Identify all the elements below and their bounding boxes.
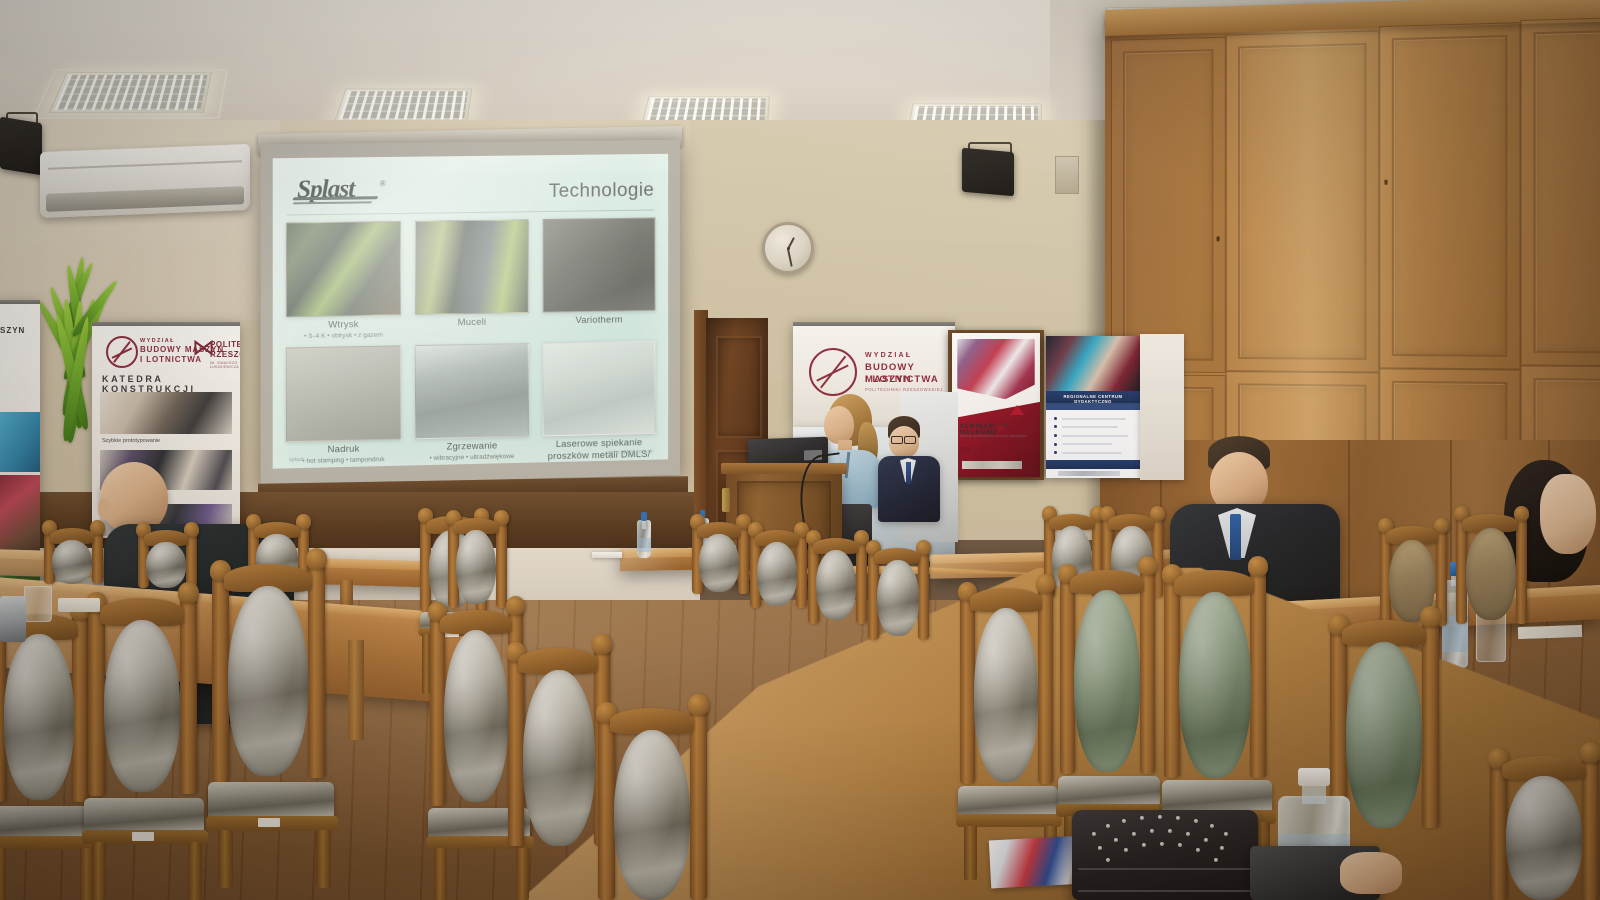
slide-content: Splast ® Technologie Wtrysk • 3–4 K • ob…	[273, 154, 668, 469]
poster-regionalne-centrum: REGIONALNE CENTRUM DYDAKTYCZNO	[1046, 336, 1140, 478]
tile-image-nadruk	[286, 346, 401, 443]
chair-fg-center-3[interactable]	[598, 700, 726, 900]
handbag-foreground	[1072, 810, 1258, 900]
tile-image-wtrysk	[286, 221, 401, 317]
banner-left-caption: Szybkie prototypowanie	[102, 438, 160, 444]
tile-subtitle-0: • 3–4 K • oblrysk • z gazem	[304, 332, 383, 342]
bottle-back-1	[637, 512, 651, 558]
banner-left-pr-sub: IM. IGNACEGO ŁUKASIEWICZA	[210, 361, 240, 369]
man2-glasses-right	[904, 436, 916, 444]
ceiling-light-1	[49, 73, 212, 113]
cabinet-door-3[interactable]	[1379, 22, 1520, 369]
tile-image-zgrzewanie	[415, 343, 529, 439]
tile-image-variotherm	[543, 217, 656, 312]
tile-caption-2: Variotherm	[576, 314, 623, 327]
tile-zgrzewanie: Zgrzewanie • wibracyjne • ultradźwiękowe	[416, 343, 528, 468]
banner-podium-line3: I LOTNICTWA	[865, 374, 939, 386]
cabinet-door-1[interactable]	[1111, 37, 1226, 373]
man2-glasses-left	[891, 436, 903, 444]
wall-clock	[762, 222, 814, 274]
cabinet-door-4[interactable]	[1520, 17, 1600, 366]
object-left-edge	[0, 596, 26, 642]
tile-caption-3: Nadruk	[327, 444, 359, 457]
slide-divider	[287, 210, 654, 216]
splast-registered-mark: ®	[380, 179, 386, 188]
banner-far-left-heading: SZYN	[0, 326, 25, 335]
chair-fg-right-5[interactable]	[1490, 750, 1600, 900]
chair-fg-left-3[interactable]	[212, 550, 348, 890]
wall-vent	[1055, 156, 1079, 194]
banner-left-pr-line2: RZESZOWSKA	[210, 350, 240, 360]
splast-logo: Splast ®	[291, 171, 384, 206]
tile-image-muceli	[415, 219, 529, 315]
wbmil-logo-icon	[106, 336, 138, 368]
air-conditioner	[40, 144, 250, 218]
banner-podium-line1: WYDZIAŁ	[865, 352, 912, 359]
papers-left	[58, 598, 100, 612]
banner-left-pr-line1: POLITECHNIKA	[210, 340, 240, 350]
far-right-face	[1540, 474, 1596, 554]
hand-foreground	[1340, 852, 1402, 894]
chair-mid-4[interactable]	[806, 530, 870, 680]
tile-muceli: Muceli	[416, 219, 528, 339]
attendee-right-tie	[1230, 514, 1241, 560]
conference-room-photo: Splast ® Technologie Wtrysk • 3–4 K • ob…	[0, 0, 1600, 900]
papers-back-2	[592, 552, 622, 558]
tile-image-laserowe	[543, 341, 656, 437]
tile-caption-0: Wtrysk	[328, 319, 358, 331]
wall-speaker-left	[0, 117, 42, 176]
man2-tie	[906, 462, 911, 484]
wbmil-logo-icon-podium	[809, 348, 857, 396]
presenter-face	[824, 406, 854, 444]
ceiling-light-2	[334, 89, 472, 122]
projection-screen: Splast ® Technologie Wtrysk • 3–4 K • ob…	[261, 140, 680, 485]
chair-mid-5[interactable]	[866, 540, 932, 700]
banner-left-logo-line1: WYDZIAŁ	[140, 338, 175, 344]
poster-seminar-subtitle: Metody przetwórstwa tworzyw sztucznych	[960, 434, 1030, 438]
tile-wtrysk: Wtrysk • 3–4 K • oblrysk • z gazem	[287, 221, 400, 342]
attendee-left-ear	[98, 498, 110, 520]
cabinet-door-2[interactable]	[1226, 30, 1379, 372]
tile-caption-1: Muceli	[458, 317, 487, 329]
tile-variotherm: Variotherm	[544, 217, 655, 337]
chair-mid-3[interactable]	[748, 522, 810, 662]
chair-right-4[interactable]	[1454, 506, 1532, 706]
slide-title: Technologie	[549, 180, 655, 203]
table-left-long-leg	[348, 640, 364, 740]
tile-nadruk: Nadruk • hot stamping • tampondruk	[287, 346, 400, 469]
person-man-beside-presenter	[878, 416, 944, 526]
poster-seminarium-naukowe: SEMINARIUM NAUKOWE Metody przetwórstwa t…	[952, 333, 1040, 477]
slide-footer-right: www.splast.com.pl	[608, 449, 653, 457]
glass-left	[24, 586, 52, 622]
slide-footer-left: splast	[289, 457, 304, 464]
chair-mid-2[interactable]	[690, 514, 752, 644]
chair-fg-left-2[interactable]	[88, 582, 218, 900]
wall-speaker-right	[962, 148, 1014, 197]
technology-tile-grid: Wtrysk • 3–4 K • oblrysk • z gazem Mucel…	[287, 217, 654, 446]
chair-fg-right-1[interactable]	[960, 578, 1068, 878]
